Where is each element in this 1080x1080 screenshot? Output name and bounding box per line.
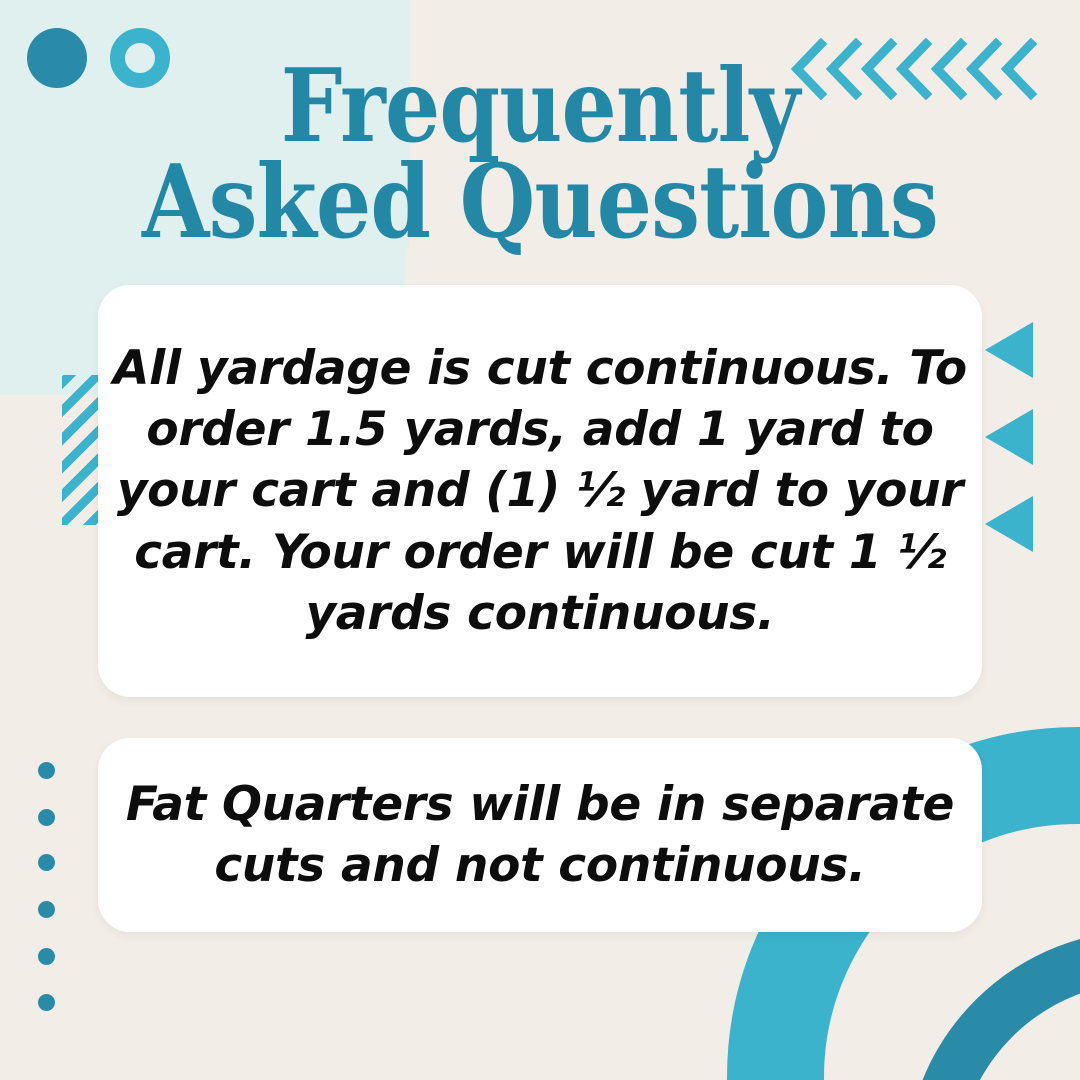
dot-icon: [38, 762, 55, 779]
faq-card-one-text: All yardage is cut continuous. To order …: [110, 338, 970, 643]
dot-icon: [38, 994, 55, 1011]
page-title-line-1: Frequently: [76, 58, 1005, 154]
dot-icon: [38, 809, 55, 826]
triangle-left-icon: [985, 496, 1033, 552]
faq-card-two-text: Fat Quarters will be in separate cuts an…: [110, 774, 970, 896]
page-title-line-2: Asked Questions: [76, 154, 1005, 250]
dot-icon: [38, 901, 55, 918]
faq-card-two: Fat Quarters will be in separate cuts an…: [98, 738, 982, 932]
triangle-left-icon: [985, 409, 1033, 465]
triangle-left-icon: [985, 322, 1033, 378]
page-title: Frequently Asked Questions: [76, 58, 1005, 250]
faq-card-one: All yardage is cut continuous. To order …: [98, 285, 982, 697]
faq-graphic: Frequently Asked Questions All yardage i…: [0, 0, 1080, 1080]
dot-icon: [38, 948, 55, 965]
triangle-column: [985, 322, 1045, 552]
dot-column: [38, 762, 58, 1007]
dot-icon: [38, 854, 55, 871]
